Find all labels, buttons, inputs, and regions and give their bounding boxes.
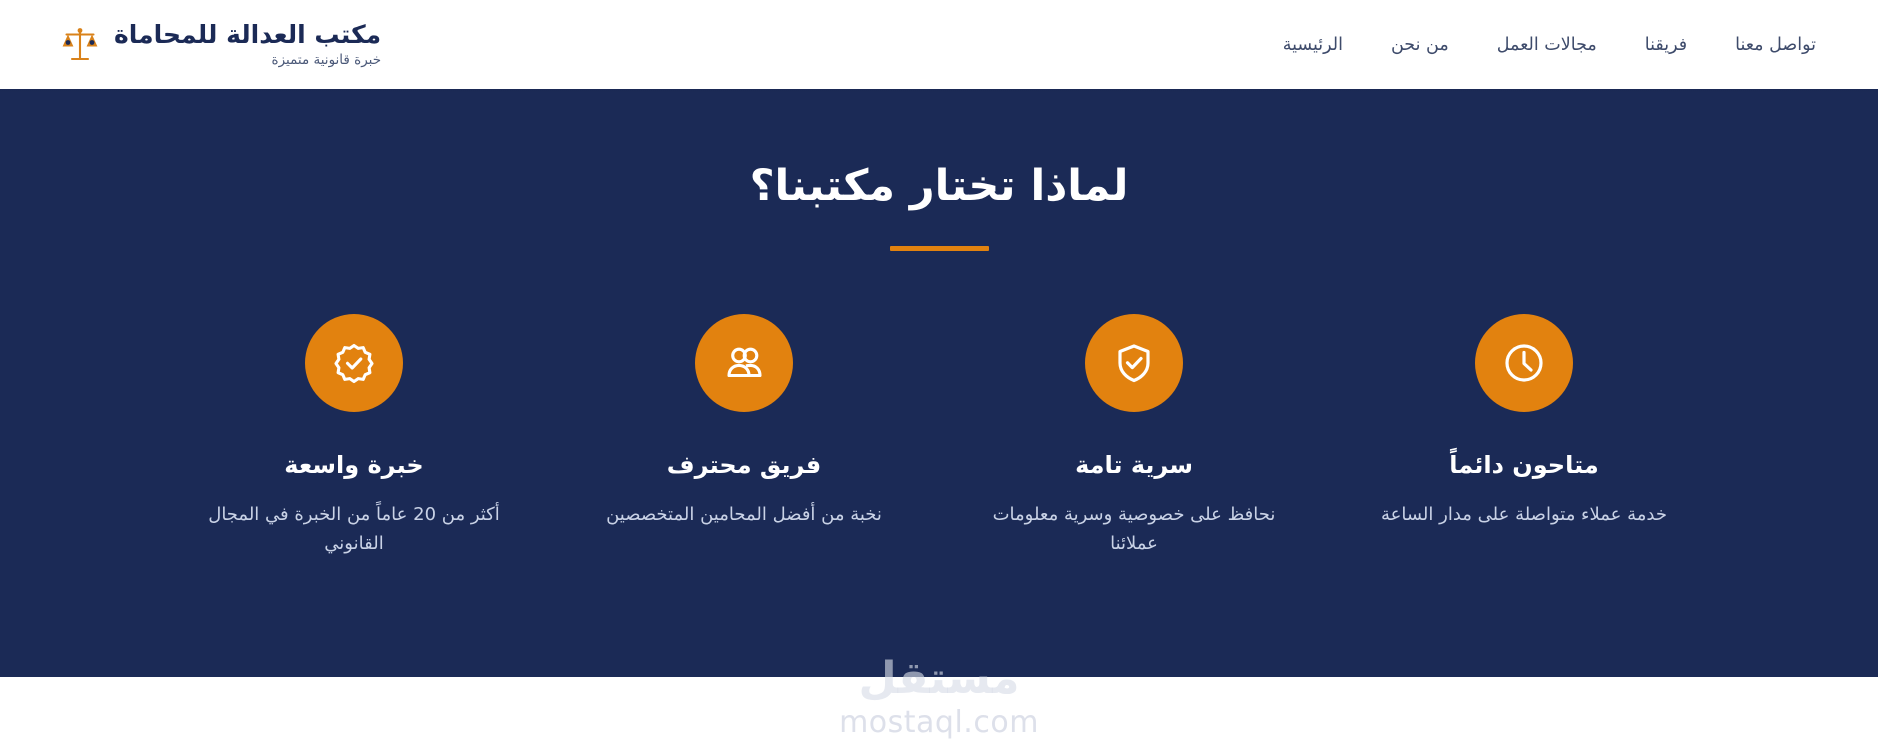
badge-check-icon (305, 314, 403, 412)
feature-card-confidentiality[interactable]: سرية تامة نحافظ على خصوصية وسرية معلومات… (939, 314, 1329, 558)
nav-item-contact[interactable]: تواصل معنا (1711, 29, 1840, 61)
brand-logo-group[interactable]: مكتب العدالة للمحاماة خبرة قانونية متميز… (60, 21, 381, 68)
feature-title: سرية تامة (1075, 450, 1193, 480)
section-title: لماذا تختار مكتبنا؟ (0, 161, 1878, 213)
feature-card-availability[interactable]: متاحون دائماً خدمة عملاء متواصلة على مدا… (1329, 314, 1719, 529)
page-root: تواصل معنا فريقنا مجالات العمل من نحن ال… (0, 0, 1878, 750)
shield-check-icon (1085, 314, 1183, 412)
nav-item-practice-areas[interactable]: مجالات العمل (1473, 29, 1621, 61)
brand-title: مكتب العدالة للمحاماة (114, 21, 381, 50)
feature-description: نخبة من أفضل المحامين المتخصصين (606, 500, 882, 529)
feature-title: خبرة واسعة (284, 450, 423, 480)
why-choose-us-section: لماذا تختار مكتبنا؟ متاحون دائماً خدمة ع… (0, 89, 1878, 677)
feature-card-team[interactable]: فريق محترف نخبة من أفضل المحامين المتخصص… (549, 314, 939, 529)
feature-title: فريق محترف (667, 450, 821, 480)
main-navigation: تواصل معنا فريقنا مجالات العمل من نحن ال… (1259, 29, 1840, 61)
brand-text: مكتب العدالة للمحاماة خبرة قانونية متميز… (114, 21, 381, 68)
nav-item-team[interactable]: فريقنا (1621, 29, 1711, 61)
features-grid: متاحون دائماً خدمة عملاء متواصلة على مدا… (0, 314, 1878, 558)
feature-description: أكثر من 20 عاماً من الخبرة في المجال الق… (189, 500, 519, 558)
feature-description: نحافظ على خصوصية وسرية معلومات عملائنا (969, 500, 1299, 558)
site-header: تواصل معنا فريقنا مجالات العمل من نحن ال… (0, 0, 1878, 89)
scales-of-justice-icon (60, 22, 100, 66)
nav-item-home[interactable]: الرئيسية (1259, 29, 1367, 61)
title-underline-accent (890, 246, 989, 251)
footer-strip (0, 677, 1878, 750)
users-team-icon (695, 314, 793, 412)
feature-description: خدمة عملاء متواصلة على مدار الساعة (1381, 500, 1667, 529)
brand-tagline: خبرة قانونية متميزة (272, 53, 382, 69)
feature-card-experience[interactable]: خبرة واسعة أكثر من 20 عاماً من الخبرة في… (159, 314, 549, 558)
feature-title: متاحون دائماً (1449, 450, 1599, 480)
nav-item-about[interactable]: من نحن (1367, 29, 1473, 61)
clock-icon (1475, 314, 1573, 412)
